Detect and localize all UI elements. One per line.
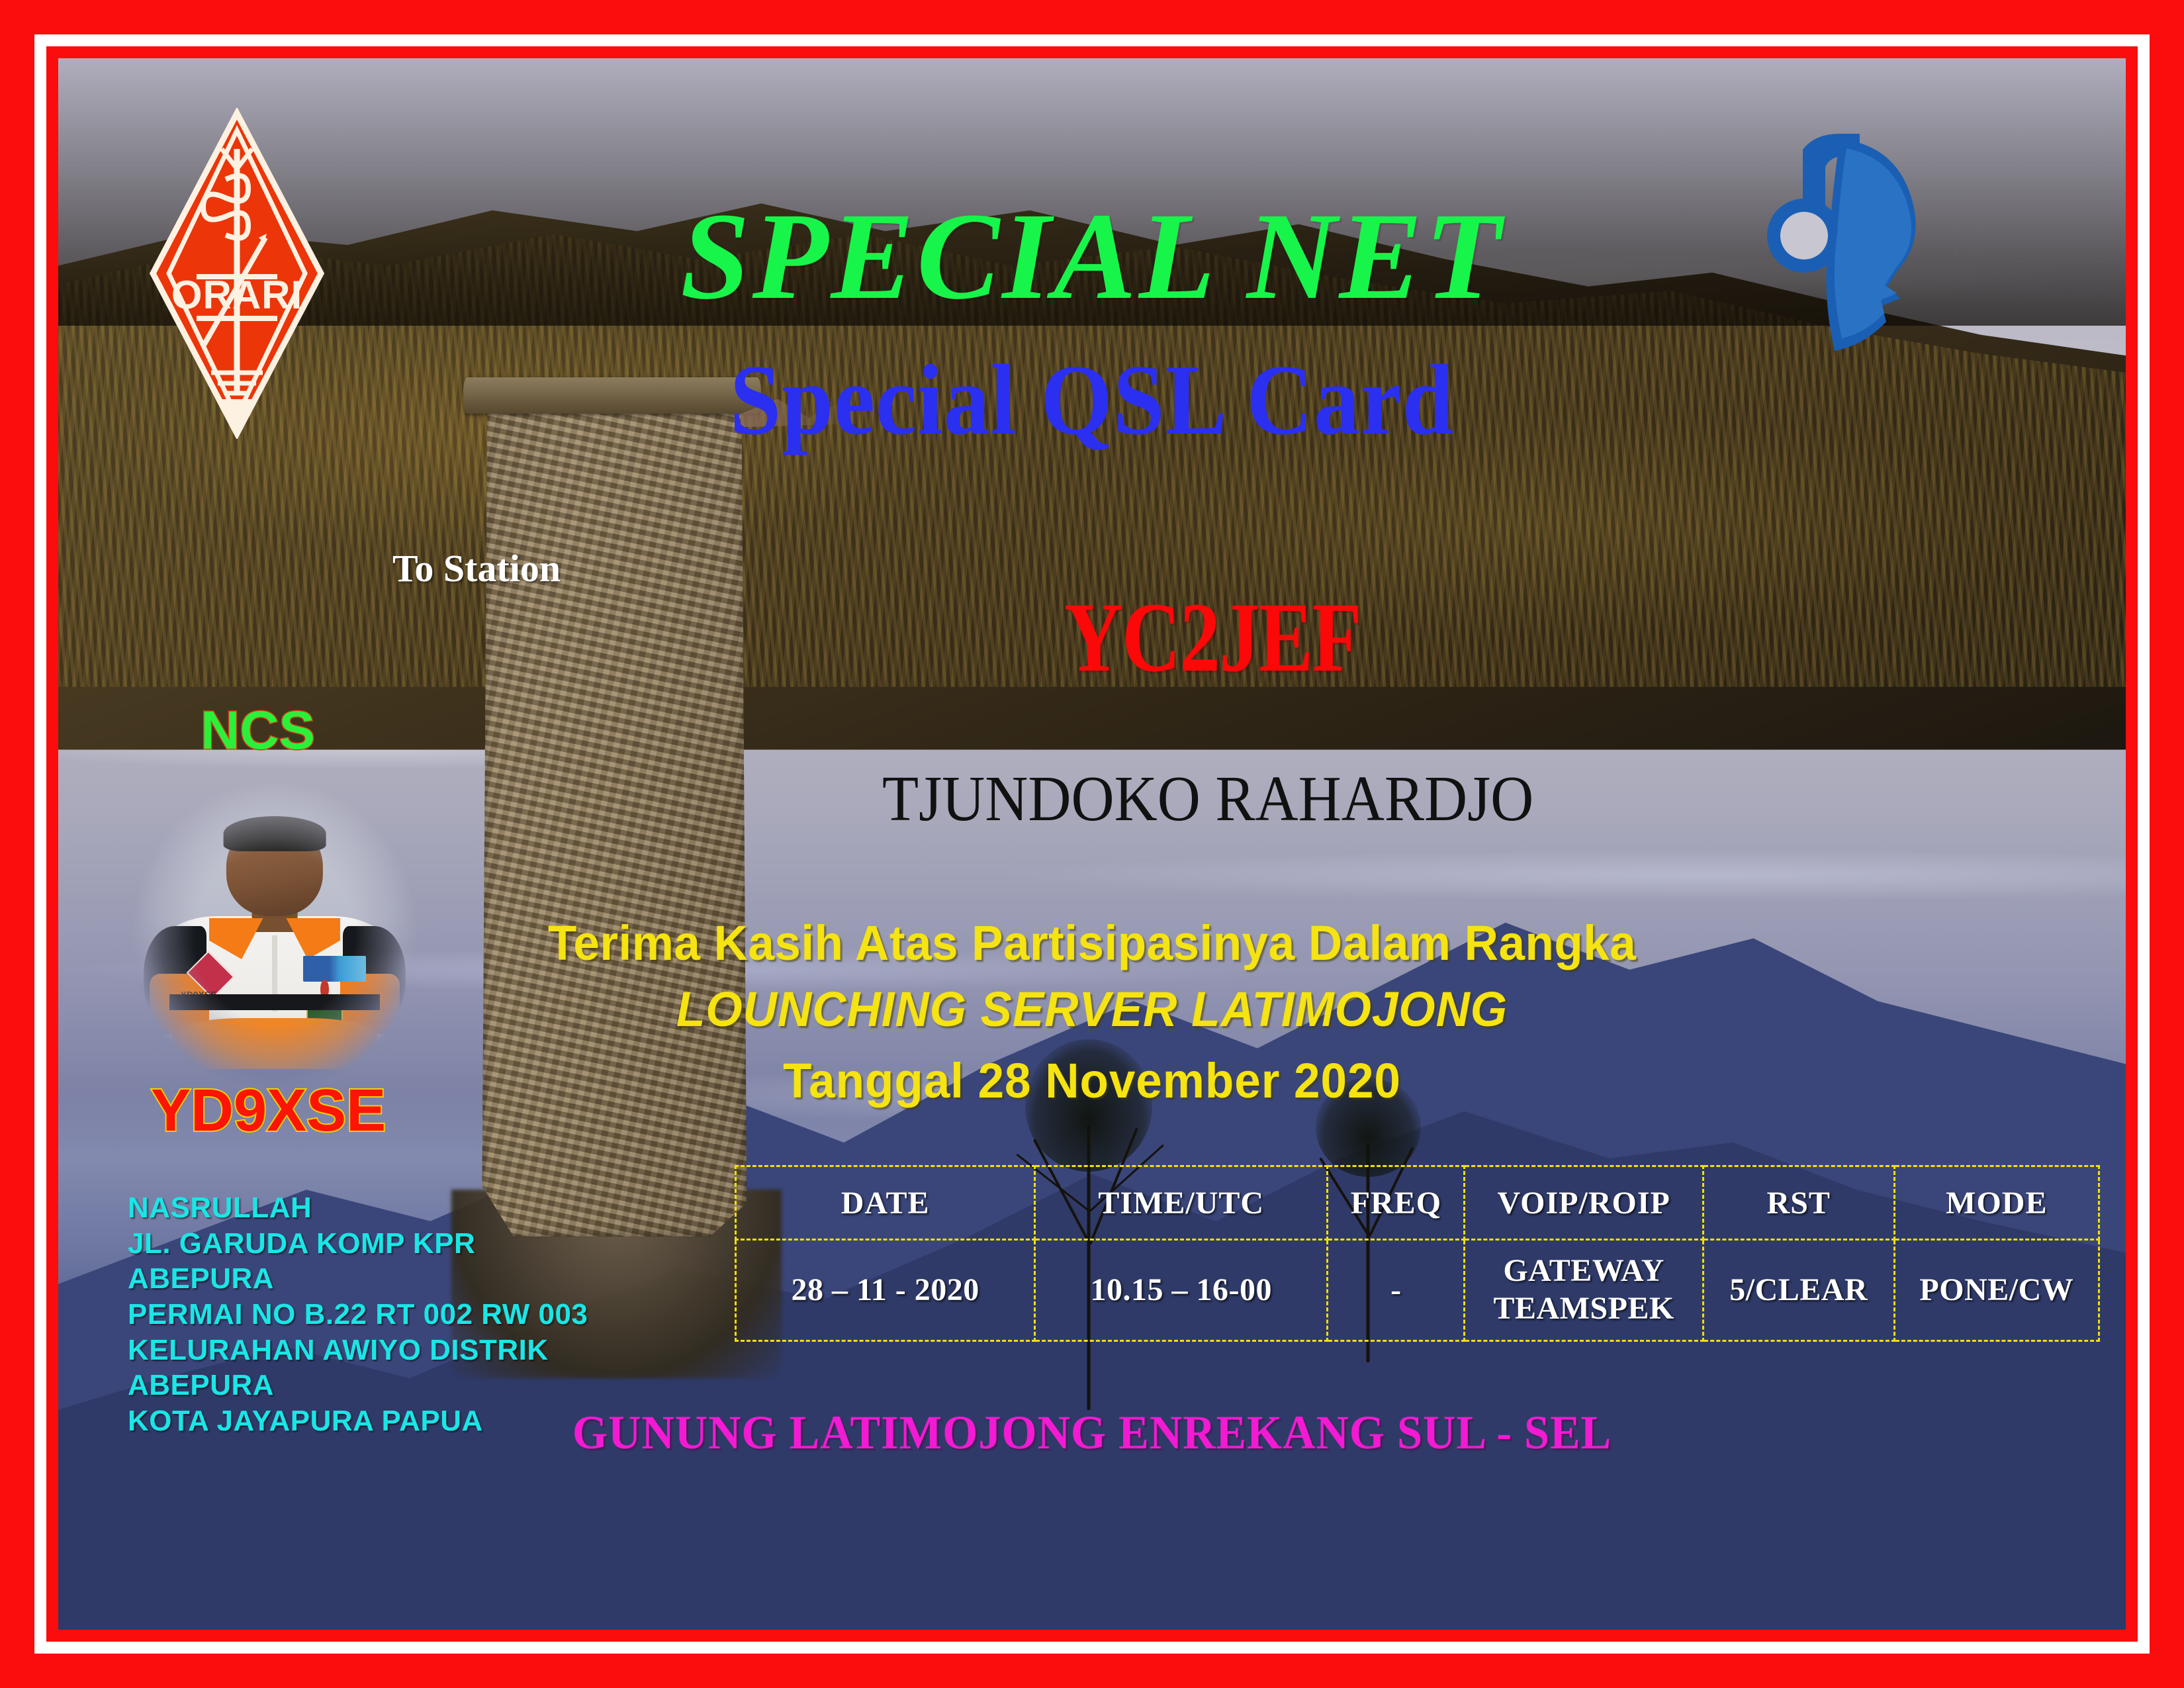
column-header-time-utc: TIME/UTC bbox=[1035, 1166, 1328, 1240]
column-header-freq: FREQ bbox=[1328, 1166, 1465, 1240]
column-header-voip-roip: VOIP/ROIP bbox=[1465, 1166, 1703, 1240]
cell-freq: - bbox=[1328, 1240, 1465, 1341]
address-line: JL. GARUDA KOMP KPR bbox=[128, 1226, 588, 1262]
thanks-message-line2: LOUNCHING SERVER LATIMOJONG bbox=[99, 985, 2084, 1034]
address-line: KELURAHAN AWIYO DISTRIK bbox=[128, 1333, 588, 1368]
address-line: PERMAI NO B.22 RT 002 RW 003 bbox=[128, 1297, 588, 1333]
address-line: ABEPURA bbox=[128, 1261, 588, 1297]
ncs-address-block: NASRULLAH JL. GARUDA KOMP KPR ABEPURA PE… bbox=[128, 1190, 588, 1439]
cell-date: 28 – 11 - 2020 bbox=[736, 1240, 1035, 1341]
thanks-message-date: Tanggal 28 November 2020 bbox=[99, 1056, 2084, 1105]
cell-voip-roip-line2: TEAMSPEK bbox=[1465, 1290, 1702, 1328]
page-subtitle-special-qsl-card: Special QSL Card bbox=[141, 350, 2043, 450]
footer-motto: "AMATIR RADIO ADALAH PROGRESIVE" bbox=[136, 1627, 987, 1630]
cell-mode: PONE/CW bbox=[1894, 1240, 2099, 1341]
address-line: NASRULLAH bbox=[128, 1190, 588, 1226]
column-header-date: DATE bbox=[736, 1166, 1035, 1240]
column-header-rst: RST bbox=[1703, 1166, 1894, 1240]
cell-voip-roip: GATEWAY TEAMSPEK bbox=[1465, 1240, 1703, 1341]
column-header-mode: MODE bbox=[1894, 1166, 2099, 1240]
to-station-label: To Station bbox=[392, 549, 561, 588]
table-header-row: DATE TIME/UTC FREQ VOIP/ROIP RST MODE bbox=[736, 1166, 2099, 1240]
qsl-card: ORARI bbox=[0, 0, 2184, 1688]
thanks-message-line1: Terima Kasih Atas Partisipasinya Dalam R… bbox=[99, 919, 2084, 968]
operator-name: TJUNDOKO RAHARDJO bbox=[882, 767, 1533, 831]
qso-log-table: DATE TIME/UTC FREQ VOIP/ROIP RST MODE 28… bbox=[735, 1165, 2100, 1342]
location-caption: GUNUNG LATIMOJONG ENREKANG SUL - SEL bbox=[110, 1409, 2074, 1456]
cell-time-utc: 10.15 – 16-00 bbox=[1035, 1240, 1328, 1341]
page-title-special-net: SPECIAL NET bbox=[58, 194, 2126, 318]
footer-web-address: Address : amatir.latimojong.com bbox=[1336, 1627, 1919, 1630]
cell-voip-roip-line1: GATEWAY bbox=[1465, 1252, 1702, 1290]
table-row: 28 – 11 - 2020 10.15 – 16-00 - GATEWAY T… bbox=[736, 1240, 2099, 1341]
cell-rst: 5/CLEAR bbox=[1703, 1240, 1894, 1341]
to-station-callsign: YC2JEF bbox=[1064, 588, 1361, 687]
card-photo-background: ORARI bbox=[58, 58, 2126, 1630]
stone-summit-pillar bbox=[482, 389, 747, 1237]
ncs-label: NCS bbox=[201, 704, 315, 758]
address-line: ABEPURA bbox=[128, 1368, 588, 1403]
